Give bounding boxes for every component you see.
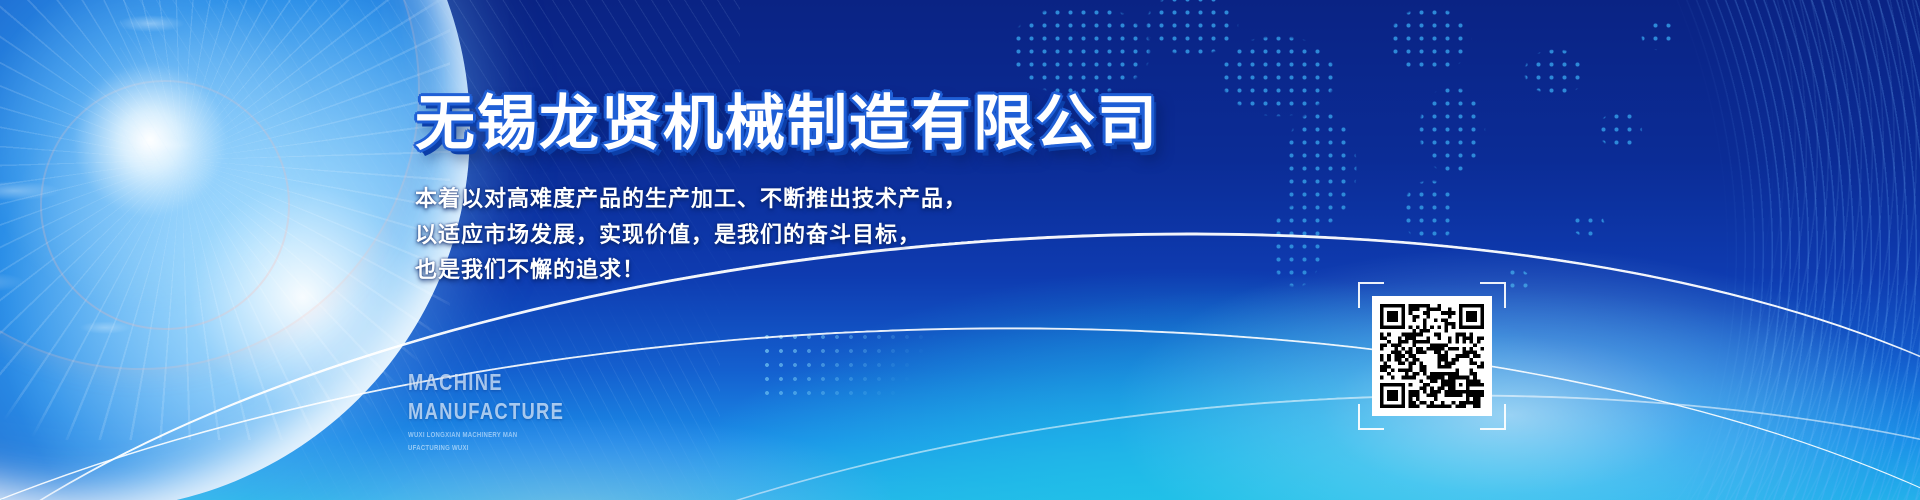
sun-rays [0,0,450,440]
lens-flare-ring [0,0,420,370]
earth-globe-graphic [0,0,470,500]
qr-code-block[interactable] [1358,282,1506,430]
subtitle-line-2: 以适应市场发展，实现价值，是我们的奋斗目标， [415,217,1159,253]
light-bloom [1120,250,1900,500]
dot-cluster-decoration [760,330,980,400]
globe-rim-light [0,0,470,500]
subtitle-line-3: 也是我们不懈的追求！ [415,252,1159,288]
page-title: 无锡龙贤机械制造有限公司 [415,92,1159,155]
sun-glow [0,0,360,350]
watermark-line-machine: MACHINE [408,368,564,397]
globe-clouds [0,0,470,500]
qr-code-surface[interactable] [1372,296,1492,416]
lens-flare-ring-small [40,80,290,330]
watermark-small-line-1: WUXI LONGXIAN MACHINERY MAN [408,431,576,440]
globe-sphere [0,0,470,500]
qr-code-icon[interactable] [1380,304,1484,408]
subtitle-block: 本着以对高难度产品的生产加工、不断推出技术产品， 以适应市场发展，实现价值，是我… [415,181,1159,288]
subtitle-line-1: 本着以对高难度产品的生产加工、不断推出技术产品， [415,181,1159,217]
watermark-small-line-2: UFACTURING WUXI [408,444,576,453]
light-swoosh-2 [0,272,1920,500]
watermark-line-manufacture: MANUFACTURE [408,397,564,426]
company-banner: 无锡龙贤机械制造有限公司 本着以对高难度产品的生产加工、不断推出技术产品， 以适… [0,0,1920,500]
watermark-lockup: MACHINE MANUFACTURE WUXI LONGXIAN MACHIN… [408,368,603,454]
headline-block: 无锡龙贤机械制造有限公司 本着以对高难度产品的生产加工、不断推出技术产品， 以适… [415,92,1159,288]
